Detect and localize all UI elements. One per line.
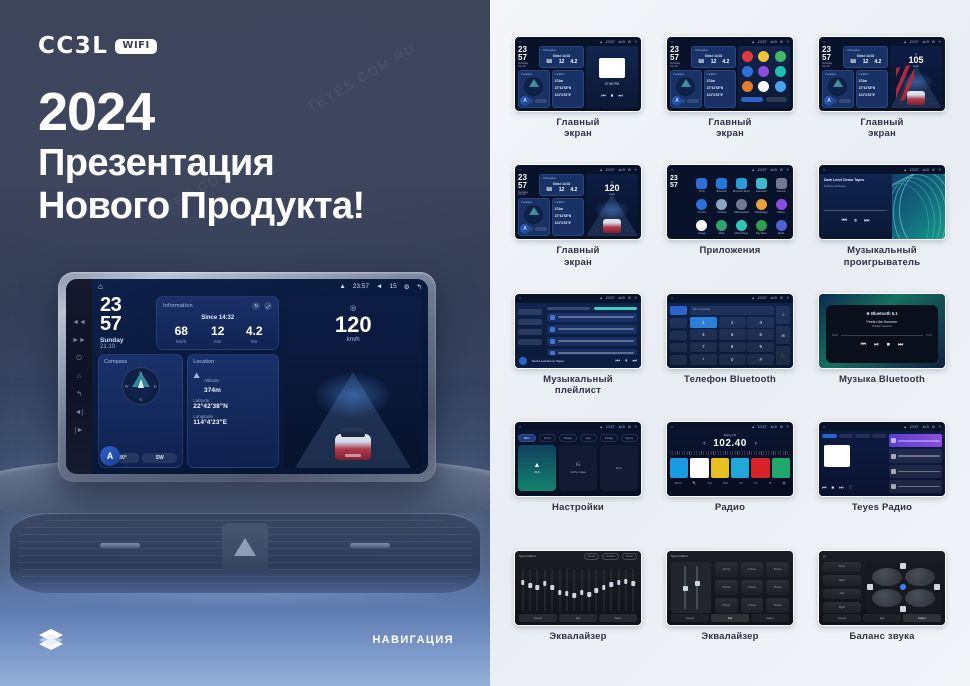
- home-icon: ⌂: [519, 168, 521, 172]
- thumb-information-card: Information Since 14:32 68124.2: [539, 174, 584, 196]
- thumb-sound-balance[interactable]: ⌂ ▲ 23:57 ◄15 ⚙ ↰ ◎ FrontRearLeftRight S…: [818, 550, 946, 626]
- thumb-app-tile: Bluetooth: [713, 176, 731, 195]
- wifi-icon: ▲: [599, 425, 602, 429]
- thumb-app-icon: [758, 66, 769, 77]
- thumb-settings[interactable]: ⌂ ▲ 23:57 ◄15 ⚙ ↰ Wi-FiSoundDisplayAppsS…: [514, 421, 642, 497]
- thumb-balance-preset: Rear: [823, 575, 861, 586]
- home-icon: ⌂: [671, 168, 673, 172]
- thumb-app-tile: Camera: [772, 176, 790, 195]
- balance-arrow-handle[interactable]: [900, 606, 906, 612]
- thumb-eq-band: [520, 569, 525, 611]
- thumb-dialpad-key: 4: [690, 329, 717, 340]
- trip-duration-value: 12: [199, 325, 235, 337]
- thumb-eq-preset: Preset: [741, 598, 764, 613]
- back-icon: ↰: [786, 296, 789, 300]
- thumb-location-card: Location 374m 22°42'38"N 114°4'23"E: [704, 70, 736, 108]
- volume-icon: ◄15: [770, 168, 777, 172]
- thumbnail-caption: Teyes Радио: [852, 502, 912, 513]
- wifi-icon: ▲: [534, 462, 541, 469]
- status-volume: 15: [389, 283, 396, 290]
- thumb-music-playlist[interactable]: ⌂ ▲ 23:57 ◄15 ⚙ ↰ Dark Level Demo Tapes …: [514, 293, 642, 369]
- navigation-label: НАВИГАЦИЯ: [372, 634, 454, 646]
- thumbnail-caption: Радио: [715, 502, 745, 513]
- thumb-location-card: Location 374m 22°42'38"N 114°4'23"E: [552, 198, 584, 236]
- thumb-equalizer-presets[interactable]: ⌂ ▲ 23:57 ◄15 ⚙ ↰ Sound Effect PresetPre…: [666, 550, 794, 626]
- thumb-eq-band: [527, 569, 532, 611]
- thumb-status-bar: ⌂ ▲ 23:57 ◄15 ⚙ ↰: [667, 422, 793, 431]
- thumb-eq-band: [623, 569, 628, 611]
- wifi-badge: WIFI: [115, 39, 156, 54]
- thumbnail-caption: Главныйэкран: [860, 117, 903, 139]
- thumb-app-tile: Play Store: [752, 218, 770, 237]
- thumb-app-icon: [742, 81, 753, 92]
- thumb-radio-preset: [731, 458, 749, 478]
- thumb-status-bar: ⌂ ▲ 23:57 ◄15 ⚙ ↰: [667, 37, 793, 46]
- next-icon: ⏭: [618, 93, 623, 99]
- volume-icon[interactable]: ◄: [376, 283, 382, 290]
- wifi-icon: ▲: [599, 168, 602, 172]
- prev-icon: ⏮: [822, 485, 827, 491]
- thumb-clock: 2357 Sunday21.10: [822, 46, 840, 68]
- volume-icon: ◄15: [770, 296, 777, 300]
- latitude-row: Latitude 22°42'38"N: [193, 398, 273, 410]
- speed-value: 120: [284, 314, 422, 336]
- thumb-app-icon: [742, 66, 753, 77]
- home-icon: ⌂: [671, 40, 673, 44]
- thumbnail-grid: ⌂ ▲ 23:57 ◄15 ⚙ ↰ 2357 Sunday21.10 Infor…: [504, 36, 956, 674]
- volume-icon: ◄15: [770, 425, 777, 429]
- compass-location-row: Compass N E S W: [98, 354, 279, 468]
- balance-center-point[interactable]: [900, 584, 906, 590]
- volume-icon: ◄15: [922, 168, 929, 172]
- thumb-status-bar: ⌂ ▲ 23:57 ◄15 ⚙ ↰: [819, 165, 945, 174]
- next-icon[interactable]: ►►: [72, 337, 86, 344]
- expand-icon[interactable]: ⤢: [264, 302, 272, 310]
- next-icon: ⏭: [632, 358, 637, 364]
- gear-icon: ⚙: [932, 168, 935, 172]
- trip-distance-value: 4.2: [236, 325, 272, 337]
- clock-and-info-row: 23 57 Sunday 21.10 Information: [98, 296, 279, 350]
- thumb-balance-preset: Right: [823, 602, 861, 613]
- trip-distance-unit: km: [236, 339, 272, 344]
- thumb-eq-band: [594, 569, 599, 611]
- product-logo: CC3L WIFI: [38, 33, 157, 59]
- clock-date: 21.10: [100, 344, 150, 350]
- thumb-clock: 2357 Sunday21.10: [518, 174, 536, 196]
- thumb-app-icon: [775, 51, 786, 62]
- thumb-dialpad-key: 9: [747, 342, 774, 353]
- gear-icon: ⚙: [628, 296, 631, 300]
- thumb-eq-preset: Preset: [741, 562, 764, 577]
- thumb-status-bar: ⌂ ▲ 23:57 ◄15 ⚙ ↰: [667, 165, 793, 174]
- thumb-dialpad-key: 7: [690, 342, 717, 353]
- gear-icon: ⚙: [780, 168, 783, 172]
- prev-icon: ‹: [703, 441, 705, 447]
- head-unit-side-buttons[interactable]: ◄◄ ►► ⏻ ⌂ ↰ ◄| |►: [66, 279, 92, 474]
- thumb-eq-preset: Preset: [715, 562, 738, 577]
- thumb-eq-preset: Preset: [766, 598, 789, 613]
- dashboard-lower-glow: [0, 566, 490, 686]
- compass-mark-w: W: [125, 384, 129, 389]
- thumb-balance-preset: Front: [823, 562, 861, 573]
- status-time: 23:57: [910, 168, 919, 172]
- latitude-value: 22°42'38"N: [193, 403, 273, 410]
- thumb-app-tile: USB Equalizer: [733, 197, 751, 216]
- thumb-dialpad-key: 3: [747, 317, 774, 328]
- next-icon: ›: [755, 441, 757, 447]
- thumb-status-bar: ⌂ ▲ 23:57 ◄15 ⚙ ↰: [515, 37, 641, 46]
- thumb-dialpad-key: 0: [719, 354, 746, 365]
- thumb-eq-preset: Preset: [715, 598, 738, 613]
- thumb-information-card: Information Since 14:32 68124.2: [843, 46, 888, 68]
- speed-unit: km/h: [284, 337, 422, 343]
- compass-dial: N E S W: [122, 367, 160, 405]
- gallery-cell: ⌂ ▲ 23:57 ◄15 ⚙ ↰ ✻ Bluetooth 5.1 Feels …: [808, 293, 956, 417]
- gallery-cell: ⌂ ▲ 23:57 ◄15 ⚙ ↰ Dark Level Demo Tapes …: [808, 164, 956, 288]
- gallery-cell: ⌂ ▲ 23:57 ◄15 ⚙ ↰ 2357 Sunday21.10 Infor…: [504, 36, 652, 160]
- home-left-column: 23 57 Sunday 21.10 Information: [98, 296, 279, 468]
- thumb-music-player[interactable]: ⌂ ▲ 23:57 ◄15 ⚙ ↰ Dark Level Demo Tapes …: [818, 164, 946, 240]
- gallery-cell: ⌂ ▲ 23:57 ◄15 ⚙ ↰ Dark Level Demo Tapes …: [504, 293, 652, 417]
- thumb-app-tile: FileManager: [752, 197, 770, 216]
- gear-icon: ⚙: [780, 296, 783, 300]
- layers-icon[interactable]: [38, 628, 64, 650]
- thumb-eq-band: [601, 569, 606, 611]
- gear-icon: ⚙: [780, 425, 783, 429]
- home-icon: ⌂: [671, 425, 673, 429]
- thumb-eq-band: [609, 569, 614, 611]
- thumb-information-card: Information Since 14:32 68124.2: [539, 46, 584, 68]
- status-time: 23:57: [758, 296, 767, 300]
- thumb-app-tile: Chrome: [693, 197, 711, 216]
- thumb-home-screen-media[interactable]: ⌂ ▲ 23:57 ◄15 ⚙ ↰ 2357 Sunday21.10 Infor…: [514, 36, 642, 112]
- volume-icon: ◄15: [618, 425, 625, 429]
- vent-slot-left: [100, 543, 140, 548]
- vent-slot-right: [350, 543, 390, 548]
- status-time: 23:57: [758, 425, 767, 429]
- thumbnail-caption: Музыка Bluetooth: [839, 374, 925, 385]
- thumb-station-row: [889, 480, 942, 493]
- gear-icon: ⚙: [628, 425, 631, 429]
- thumb-location-card: Location 374m 22°42'38"N 114°4'23"E: [552, 70, 584, 108]
- volume-icon: ◄15: [770, 40, 777, 44]
- thumb-eq-preset: Preset: [766, 580, 789, 595]
- balance-arrow-handle[interactable]: [867, 584, 873, 590]
- thumb-bluetooth-music[interactable]: ⌂ ▲ 23:57 ◄15 ⚙ ↰ ✻ Bluetooth 5.1 Feels …: [818, 293, 946, 369]
- prev-icon: ⏮: [601, 93, 606, 99]
- thumb-clock: 2357 Sunday21.10: [670, 46, 688, 68]
- thumbnail-caption: Главныйэкран: [556, 245, 599, 267]
- altitude-label: Altitude: [204, 378, 219, 383]
- compass-mark-e: E: [154, 384, 157, 389]
- gallery-cell: ⌂ ▲ 23:57 ◄15 ⚙ ↰ Sound Effect PresetPre…: [656, 550, 804, 674]
- status-time: 23:57: [910, 40, 919, 44]
- gallery-cell: ⌂ ▲ 23:57 ◄15 ⚙ ↰ ◎ FrontRearLeftRight S…: [808, 550, 956, 674]
- back-icon: ↰: [938, 168, 941, 172]
- trip-stat-speed: 68 km/h: [163, 325, 199, 344]
- thumb-eq-band: [535, 569, 540, 611]
- thumb-eq-band: [616, 569, 621, 611]
- gear-icon: ⚙: [780, 40, 783, 44]
- thumb-eq-band: [550, 569, 555, 611]
- thumb-eq-band: [542, 569, 547, 611]
- thumb-eq-band: [557, 569, 562, 611]
- thumb-equalizer-bands[interactable]: ⌂ ▲ 23:57 ◄15 ⚙ ↰ Sound Effect PresetCus…: [514, 550, 642, 626]
- back-icon[interactable]: ↰: [76, 391, 82, 398]
- altitude-value: 374m: [204, 387, 221, 394]
- stop-icon: ⏹: [887, 342, 890, 349]
- thumb-app-tile: Radio: [772, 218, 790, 237]
- thumb-dialpad-key: 8: [719, 342, 746, 353]
- thumb-status-bar: ⌂ ▲ 23:57 ◄15 ⚙ ↰: [515, 422, 641, 431]
- thumb-information-card: Information Since 14:32 68124.2: [691, 46, 736, 68]
- home-icon: ⌂: [823, 40, 825, 44]
- status-time: 23:57: [606, 296, 615, 300]
- gallery-cell: ⌂ ▲ 23:57 ◄15 ⚙ ↰ Beijing FM ‹ 102.40 › …: [656, 421, 804, 545]
- volume-icon: ◄15: [618, 168, 625, 172]
- gear-icon: ⚙: [932, 425, 935, 429]
- refresh-icon[interactable]: ↻: [252, 302, 260, 310]
- thumbnail-caption: Приложения: [699, 245, 760, 256]
- information-label: Information: [163, 303, 193, 309]
- gear-icon: ⚙: [932, 40, 935, 44]
- home-icon: ⌂: [519, 425, 521, 429]
- car-dashboard: [0, 455, 490, 686]
- logo-model-text: CC3L: [38, 33, 108, 59]
- balance-arrow-handle[interactable]: [934, 584, 940, 590]
- thumb-drive-panel: ◎ 105 km/h: [890, 46, 942, 108]
- thumbnail-caption: Музыкальныйпроигрыватель: [844, 245, 920, 267]
- volume-down-icon[interactable]: ◄|: [75, 409, 84, 416]
- thumb-app-icon: [758, 81, 769, 92]
- thumb-playlist-row: [547, 313, 637, 322]
- thumbnail-caption: Главныйэкран: [556, 117, 599, 139]
- back-icon: ↰: [634, 296, 637, 300]
- status-bar: ⌂ ▲ 23:57 ◄ 15 ⚙ ↰: [92, 279, 428, 294]
- thumbnail-caption: Музыкальныйплейлист: [543, 374, 613, 396]
- thumb-dialpad-key: 6: [747, 329, 774, 340]
- thumb-status-bar: ⌂ ▲ 23:57 ◄15 ⚙ ↰: [819, 37, 945, 46]
- gallery-cell: ⌂ ▲ 23:57 ◄15 ⚙ ↰ Not Connected 12345678…: [656, 293, 804, 417]
- thumb-radio-frequency: 102.40: [713, 438, 747, 449]
- presentation-slide: TEYES.COM.RU TEYES.COM.RU TEYES.COM.RU T…: [0, 0, 970, 686]
- thumb-radio-preset: [670, 458, 688, 478]
- pause-icon: ⏸: [854, 218, 857, 225]
- thumb-teyes-radio[interactable]: ⌂ ▲ 23:57 ◄15 ⚙ ↰ ⏮⏹⏭♡: [818, 421, 946, 497]
- information-card[interactable]: Information ↻ ⤢ Since 14:32: [156, 296, 279, 350]
- location-label: Location: [193, 359, 214, 365]
- prev-icon[interactable]: ◄◄: [72, 319, 86, 326]
- home-icon[interactable]: ⌂: [77, 373, 81, 380]
- trip-speed-unit: km/h: [163, 339, 199, 344]
- gear-icon[interactable]: ⚙: [404, 283, 410, 291]
- thumb-radio[interactable]: ⌂ ▲ 23:57 ◄15 ⚙ ↰ Beijing FM ‹ 102.40 › …: [666, 421, 794, 497]
- gear-icon: ⚙: [628, 40, 631, 44]
- thumb-app-tile: Gallery: [772, 197, 790, 216]
- gallery-cell: ⌂ ▲ 23:57 ◄15 ⚙ ↰ 2357 Wi-FiBluetoothBlu…: [656, 164, 804, 288]
- thumb-dialpad-key: 1: [690, 317, 717, 328]
- wifi-icon: ▲: [903, 40, 906, 44]
- thumb-station-row: [889, 434, 942, 447]
- car-rear-window: [341, 428, 365, 437]
- thumb-eq-preset: Preset: [741, 580, 764, 595]
- volume-up-icon[interactable]: |►: [75, 427, 84, 434]
- home-icon: ⌂: [519, 296, 521, 300]
- power-icon[interactable]: ⏻: [76, 355, 82, 362]
- thumb-home-screen-drive-120[interactable]: ⌂ ▲ 23:57 ◄15 ⚙ ↰ 2357 Sunday21.10 Infor…: [514, 164, 642, 240]
- headline-line-1: Презентация: [38, 142, 365, 185]
- compass-mark-s: S: [139, 397, 142, 402]
- thumb-status-bar: ⌂ ▲ 23:57 ◄15 ⚙ ↰: [515, 165, 641, 174]
- thumb-home-screen-drive-105[interactable]: ⌂ ▲ 23:57 ◄15 ⚙ ↰ 2357 Sunday21.10 Infor…: [818, 36, 946, 112]
- clock-widget: 23 57 Sunday 21.10: [98, 296, 150, 350]
- longitude-row: Longitude 114°4'23"E: [193, 414, 273, 426]
- back-icon: ↰: [938, 40, 941, 44]
- thumb-applications[interactable]: ⌂ ▲ 23:57 ◄15 ⚙ ↰ 2357 Wi-FiBluetoothBlu…: [666, 164, 794, 240]
- thumb-station-row: [889, 449, 942, 462]
- back-icon: ↰: [786, 168, 789, 172]
- thumb-eq-preset: Preset: [766, 562, 789, 577]
- camera-icon: ◎: [284, 304, 422, 312]
- play-pause-icon: ⏯: [874, 342, 879, 349]
- thumb-bluetooth-phone[interactable]: ⌂ ▲ 23:57 ◄15 ⚙ ↰ Not Connected 12345678…: [666, 293, 794, 369]
- wifi-icon: ▲: [751, 425, 754, 429]
- home-icon: ⌂: [823, 168, 825, 172]
- thumb-home-screen-apps[interactable]: ⌂ ▲ 23:57 ◄15 ⚙ ↰ 2357 Sunday21.10 Infor…: [666, 36, 794, 112]
- stop-icon: ⏹: [832, 485, 835, 491]
- head-unit: ◄◄ ►► ⏻ ⌂ ↰ ◄| |► ⌂ ▲ 23:57: [58, 272, 436, 482]
- thumbnail-caption: Главныйэкран: [708, 117, 751, 139]
- car-license-plate: [345, 454, 361, 457]
- thumb-eq-band: [579, 569, 584, 611]
- head-unit-screen[interactable]: ⌂ ▲ 23:57 ◄ 15 ⚙ ↰: [92, 279, 428, 474]
- trip-stat-distance: 4.2 km: [236, 325, 272, 344]
- headline-year: 2024: [38, 85, 365, 140]
- thumb-app-icon: [775, 81, 786, 92]
- thumbnail-caption: Телефон Bluetooth: [684, 374, 776, 385]
- wifi-icon: ▲: [751, 296, 754, 300]
- thumb-eq-band: [564, 569, 569, 611]
- thumb-dialpad-key: 2: [719, 317, 746, 328]
- next-icon: ⏭: [864, 218, 869, 225]
- thumb-speed-value: 105: [890, 56, 942, 65]
- speed-readout: ◎ 120 km/h: [284, 304, 422, 343]
- head-unit-shell: ◄◄ ►► ⏻ ⌂ ↰ ◄| |► ⌂ ▲ 23:57: [58, 272, 436, 482]
- trip-stats: 68 km/h 12 min: [163, 325, 272, 344]
- thumb-eq-preset: Preset: [715, 580, 738, 595]
- favorite-icon: ♡: [849, 485, 853, 491]
- thumb-location-card: Location 374m 22°42'38"N 114°4'23"E: [856, 70, 888, 108]
- mountain-icon: ⛰: [193, 371, 200, 381]
- home-icon: ⌂: [823, 425, 825, 429]
- gallery-cell: ⌂ ▲ 23:57 ◄15 ⚙ ↰ Sound Effect PresetCus…: [504, 550, 652, 674]
- hero-panel: TEYES.COM.RU TEYES.COM.RU TEYES.COM.RU T…: [0, 0, 490, 686]
- head-unit-body: 23 57 Sunday 21.10 Information: [92, 294, 428, 474]
- gallery-cell: ⌂ ▲ 23:57 ◄15 ⚙ ↰ Wi-FiSoundDisplayAppsS…: [504, 421, 652, 545]
- back-icon: ↰: [786, 40, 789, 44]
- wifi-icon: ▲: [599, 40, 602, 44]
- thumb-status-bar: ⌂ ▲ 23:57 ◄15 ⚙ ↰: [819, 422, 945, 431]
- altitude-row: ⛰ Altitude 374m: [193, 369, 273, 394]
- gallery-cell: ⌂ ▲ 23:57 ◄15 ⚙ ↰ 2357 Sunday21.10 Infor…: [808, 36, 956, 160]
- wifi-icon: ▲: [599, 296, 602, 300]
- thumb-track-title: Feels Like Summer: [832, 320, 932, 324]
- compass-center: [139, 384, 143, 388]
- trip-speed-value: 68: [163, 325, 199, 337]
- assistant-fab-button[interactable]: A: [100, 446, 120, 466]
- thumb-dialpad-key: #: [747, 354, 774, 365]
- thumb-track-artist: Dubstep Dubstep: [824, 184, 887, 188]
- status-time: 23:57: [606, 168, 615, 172]
- longitude-value: 114°4'23"E: [193, 419, 273, 426]
- back-icon: ↰: [634, 168, 637, 172]
- gallery-cell: ⌂ ▲ 23:57 ◄15 ⚙ ↰ ⏮⏹⏭♡: [808, 421, 956, 545]
- trip-stat-duration: 12 min: [199, 325, 235, 344]
- thumb-app-icon: [775, 66, 786, 77]
- thumb-app-tile: Calculator: [752, 176, 770, 195]
- volume-icon: ◄15: [618, 296, 625, 300]
- thumb-bt-badge: ✻ Bluetooth 5.1: [832, 311, 932, 316]
- status-time: 23:57: [758, 40, 767, 44]
- stop-icon: ⏹: [611, 93, 614, 99]
- balance-arrow-handle[interactable]: [900, 563, 906, 569]
- thumb-app-tile: Wi-Fi: [693, 176, 711, 195]
- back-icon: ↰: [634, 40, 637, 44]
- thumb-media-panel: 07:50 PM ⏮⏹⏭ ♪⟲≡⋯: [586, 46, 638, 108]
- prev-icon: ⏮: [861, 342, 866, 349]
- compass-label: Compass: [104, 359, 127, 365]
- location-card[interactable]: Location ⛰ Altitude 374m: [187, 354, 279, 468]
- screenshot-gallery: TEYES.COM.RU TEYES.COM.RU TEYES.COM.RU T…: [490, 0, 970, 686]
- usb-icon: ⎌: [576, 462, 581, 469]
- road-glow: [313, 372, 393, 418]
- status-time: 23:57: [606, 40, 615, 44]
- drive-view-panel[interactable]: ◎ 120 km/h: [284, 296, 422, 468]
- thumb-radio-preset: [690, 458, 708, 478]
- hazard-button[interactable]: [222, 523, 268, 571]
- volume-icon: ◄15: [922, 40, 929, 44]
- status-time: 23:57: [606, 425, 615, 429]
- gear-icon: ⚙: [628, 168, 631, 172]
- thumb-track-artist: Childish Gambino: [832, 325, 932, 328]
- thumb-eq-band: [586, 569, 591, 611]
- next-icon: ⏭: [898, 342, 903, 349]
- wifi-icon: ▲: [751, 40, 754, 44]
- thumb-app-tile: Contacts: [713, 197, 731, 216]
- thumb-apps-panel: [738, 46, 790, 108]
- home-icon[interactable]: ⌂: [98, 282, 103, 291]
- thumb-app-icon: [742, 51, 753, 62]
- status-time: 23:57: [353, 283, 369, 290]
- status-time: 23:57: [910, 425, 919, 429]
- thumb-radio-preset: [711, 458, 729, 478]
- trip-since-label: Since 14:32: [163, 315, 272, 321]
- thumb-status-bar: ⌂ ▲ 23:57 ◄15 ⚙ ↰: [667, 294, 793, 303]
- compass-mark-n: N: [139, 370, 142, 375]
- back-icon[interactable]: ↰: [417, 283, 422, 291]
- wifi-icon: ▲: [751, 168, 754, 172]
- gallery-cell: ⌂ ▲ 23:57 ◄15 ⚙ ↰ 2357 Sunday21.10 Infor…: [656, 36, 804, 160]
- thumb-app-tile: Google: [693, 218, 711, 237]
- thumb-app-tile: Music Player: [733, 218, 751, 237]
- car-3d-model: [333, 426, 373, 460]
- thumb-playlist-row: [547, 337, 637, 346]
- thumb-app-tile: Maps: [713, 218, 731, 237]
- clock-day: Sunday: [100, 337, 150, 344]
- headline-block: 2024 Презентация Нового Продукта!: [38, 85, 365, 227]
- thumbnail-caption: Настройки: [552, 502, 604, 513]
- prev-icon: ⏮: [615, 358, 620, 364]
